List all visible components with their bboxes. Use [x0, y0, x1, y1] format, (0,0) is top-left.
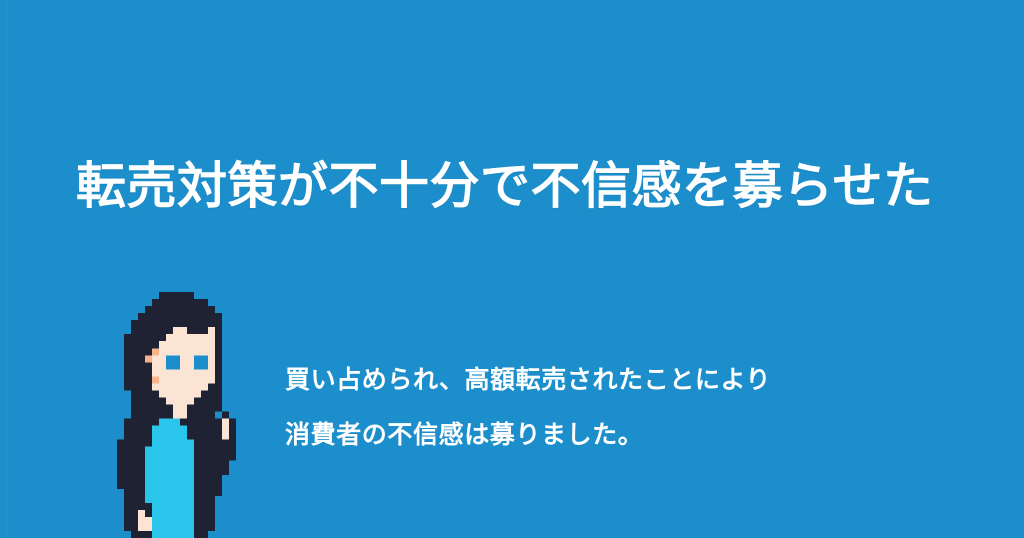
body-line-2: 消費者の不信感は募りました。	[285, 407, 925, 462]
left-edge-seam	[6, 0, 8, 538]
pixel-art-character-illustration	[96, 278, 250, 538]
slide-canvas: 転売対策が不十分で不信感を募らせた 買い占められ、高額転売されたことにより 消費…	[0, 0, 1024, 538]
page-title: 転売対策が不十分で不信感を募らせた	[76, 156, 976, 216]
body-line-1: 買い占められ、高額転売されたことにより	[285, 352, 925, 407]
body-paragraph: 買い占められ、高額転売されたことにより 消費者の不信感は募りました。	[285, 352, 925, 462]
pixel-art-canvas	[96, 278, 250, 538]
